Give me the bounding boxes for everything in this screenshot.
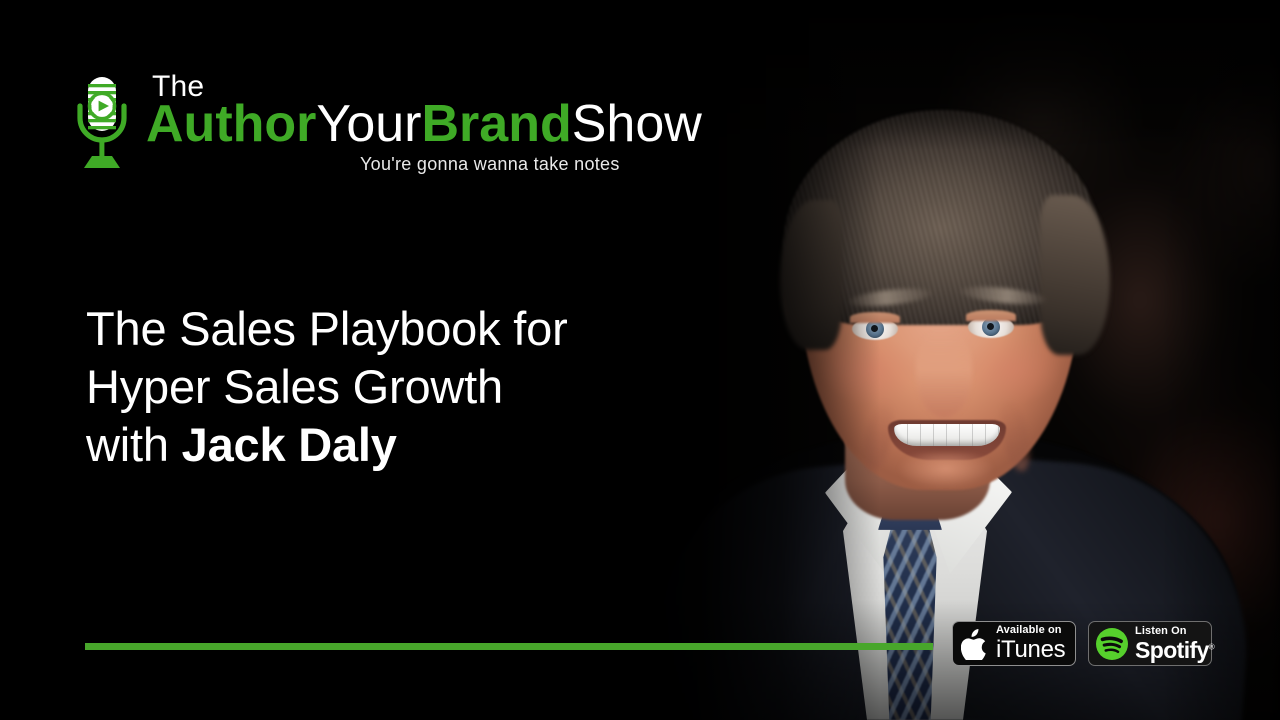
platform-badges: Available on iTunes Listen On Spotify® bbox=[952, 621, 1212, 666]
episode-title-line-3: with Jack Daly bbox=[86, 416, 646, 474]
episode-title: The Sales Playbook for Hyper Sales Growt… bbox=[86, 300, 646, 474]
spotify-badge-wordmark: Spotify bbox=[1135, 637, 1209, 663]
logo-tagline: You're gonna wanna take notes bbox=[360, 154, 620, 175]
spotify-icon bbox=[1095, 627, 1129, 661]
teeth-gaps bbox=[894, 424, 1000, 446]
nose bbox=[916, 330, 972, 418]
microphone-play-icon bbox=[74, 76, 130, 170]
spotify-badge-big-label: Spotify® bbox=[1135, 639, 1214, 662]
pupil-right bbox=[987, 323, 994, 330]
eyelid-right bbox=[966, 310, 1016, 321]
logo-wordmark: AuthorYourBrandShow bbox=[146, 98, 702, 150]
itunes-badge-big-label: iTunes bbox=[996, 638, 1065, 662]
itunes-badge-small-label: Available on bbox=[996, 625, 1065, 636]
logo-word-show: Show bbox=[572, 95, 702, 153]
itunes-badge-text: Available on iTunes bbox=[996, 625, 1065, 662]
apple-icon bbox=[961, 628, 989, 660]
episode-title-line-1: The Sales Playbook for bbox=[86, 300, 646, 358]
hair-side-right bbox=[1040, 195, 1110, 355]
chin-highlight bbox=[882, 452, 1010, 508]
spotify-badge[interactable]: Listen On Spotify® bbox=[1088, 621, 1212, 666]
logo-word-your: Your bbox=[316, 95, 421, 153]
episode-title-with: with bbox=[86, 418, 182, 471]
guest-portrait-photo bbox=[620, 0, 1280, 720]
logo-word-brand: Brand bbox=[421, 95, 571, 153]
itunes-badge[interactable]: Available on iTunes bbox=[952, 621, 1076, 666]
green-divider-rule bbox=[85, 643, 933, 650]
spotify-badge-small-label: Listen On bbox=[1135, 626, 1214, 637]
episode-guest-name: Jack Daly bbox=[182, 418, 397, 471]
spotify-trademark: ® bbox=[1209, 642, 1214, 651]
photo-fade-right bbox=[1160, 0, 1280, 720]
logo-word-author: Author bbox=[146, 95, 316, 153]
podcast-episode-card: The AuthorYourBrandShow You're gonna wan… bbox=[0, 0, 1280, 720]
episode-title-line-2: Hyper Sales Growth bbox=[86, 358, 646, 416]
spotify-badge-text: Listen On Spotify® bbox=[1135, 626, 1214, 662]
